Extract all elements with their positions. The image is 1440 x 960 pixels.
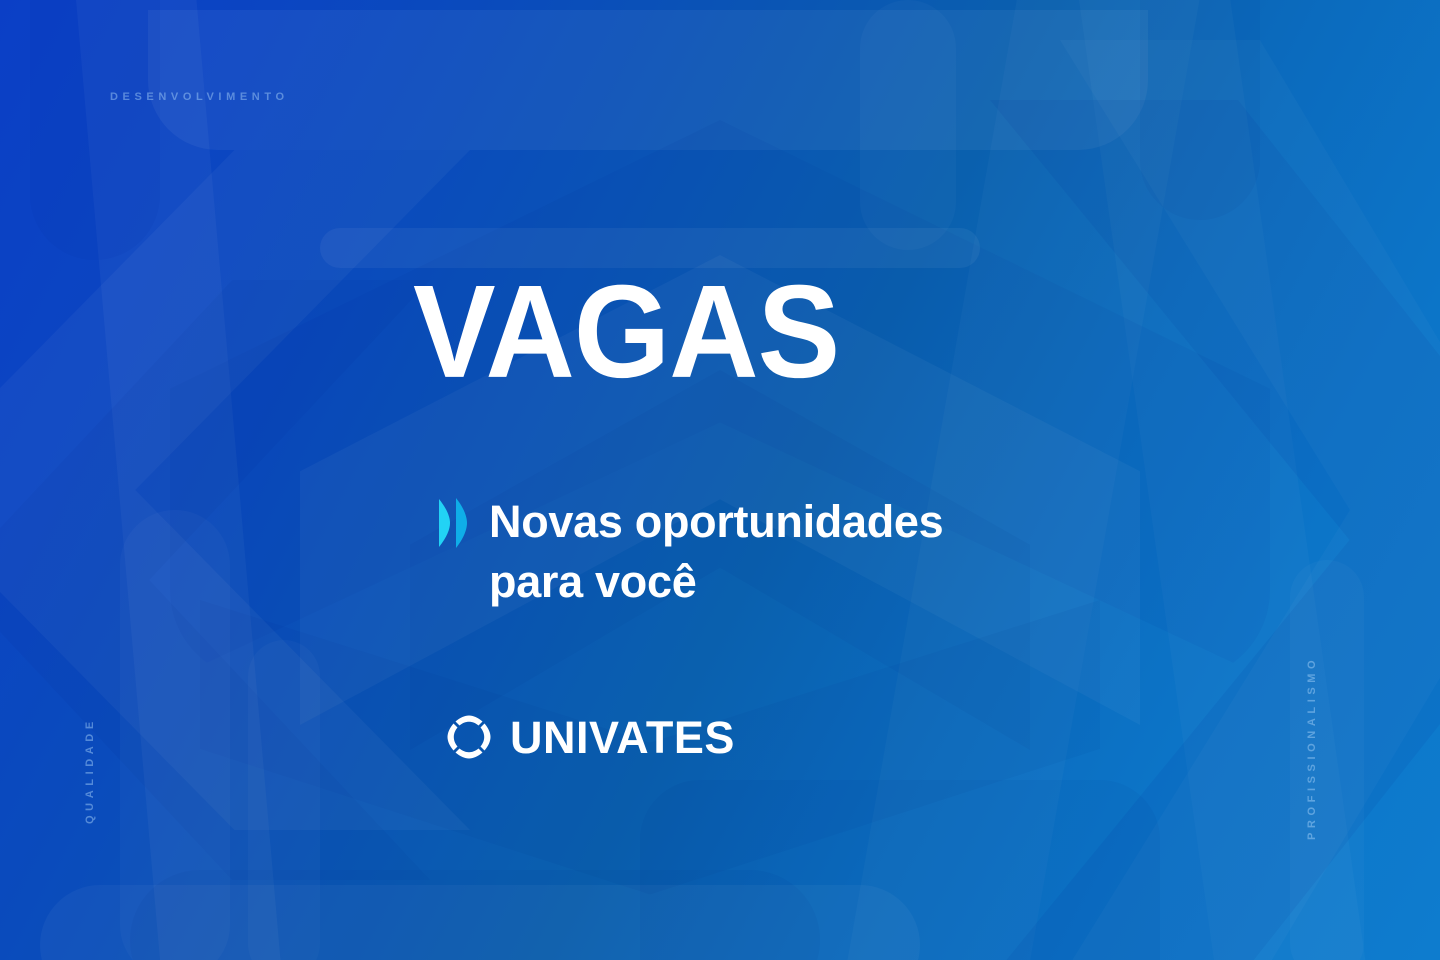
poster-content: VAGAS Novas oportunidades para você [0, 0, 1440, 960]
subtitle-text: Novas oportunidades para você [489, 492, 943, 612]
subtitle-line-2: para você [489, 552, 943, 612]
subtitle-line-1: Novas oportunidades [489, 496, 943, 547]
univates-octagon-mark-icon [440, 708, 498, 766]
double-chevron-right-icon [437, 497, 469, 549]
subtitle-block: Novas oportunidades para você [437, 492, 943, 612]
univates-wordmark: UNIVATES [510, 715, 735, 760]
univates-logo: UNIVATES [440, 708, 735, 766]
page-title: VAGAS [413, 266, 839, 398]
poster-canvas: DESENVOLVIMENTO QUALIDADE PROFISSIONALIS… [0, 0, 1440, 960]
